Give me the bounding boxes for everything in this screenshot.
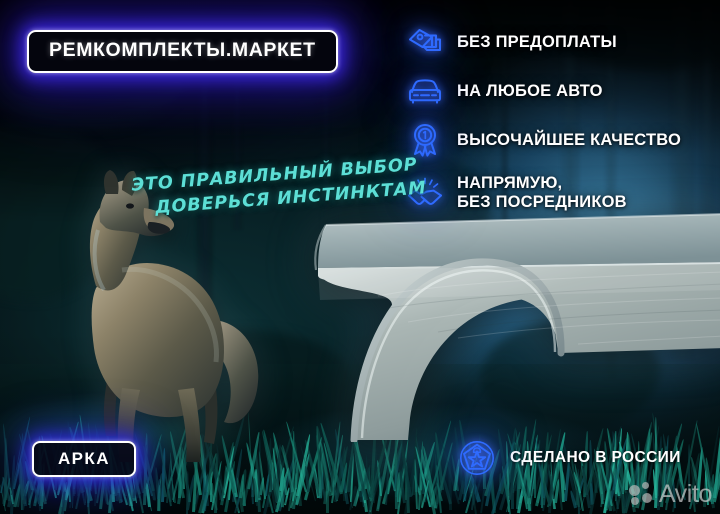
brand-logo-text: РЕМКОМПЛЕКТЫ.МАРКЕТ [49, 41, 316, 61]
feature-list: БЕЗ ПРЕДОПЛАТЫ НА ЛЮБОЕ АВТО [404, 22, 716, 222]
avito-logo-text: Avito [659, 482, 712, 507]
cash-banknotes-icon [404, 22, 446, 62]
feature-label: БЕЗ ПРЕДОПЛАТЫ [457, 33, 617, 52]
feature-item-no-intermediaries: НАПРЯМУЮ, БЕЗ ПОСРЕДНИКОВ [404, 173, 716, 213]
feature-label: НАПРЯМУЮ, БЕЗ ПОСРЕДНИКОВ [457, 174, 627, 212]
feature-label: НА ЛЮБОЕ АВТО [457, 82, 603, 101]
made-in-russia-label: СДЕЛАНО В РОССИИ [510, 449, 681, 467]
avito-logo-icon [629, 482, 654, 507]
brand-logo-badge[interactable]: РЕМКОМПЛЕКТЫ.МАРКЕТ [27, 30, 338, 73]
promo-banner: РЕМКОМПЛЕКТЫ.МАРКЕТ БЕЗ ПРЕДОПЛАТЫ [0, 0, 720, 514]
russian-quality-mark-icon [456, 437, 498, 479]
car-wheel-arch-panel [258, 212, 720, 442]
part-name-badge[interactable]: АРКА [32, 441, 136, 477]
feature-item-any-car: НА ЛЮБОЕ АВТО [404, 71, 716, 111]
car-front-icon [404, 71, 446, 111]
feature-item-top-quality: ВЫСОЧАЙШЕЕ КАЧЕСТВО [404, 120, 716, 160]
feature-label: ВЫСОЧАЙШЕЕ КАЧЕСТВО [457, 131, 681, 150]
avito-watermark: Avito [629, 482, 712, 507]
part-name-label: АРКА [58, 450, 110, 467]
feature-item-no-prepayment: БЕЗ ПРЕДОПЛАТЫ [404, 22, 716, 62]
made-in-russia-block: СДЕЛАНО В РОССИИ [456, 437, 681, 479]
